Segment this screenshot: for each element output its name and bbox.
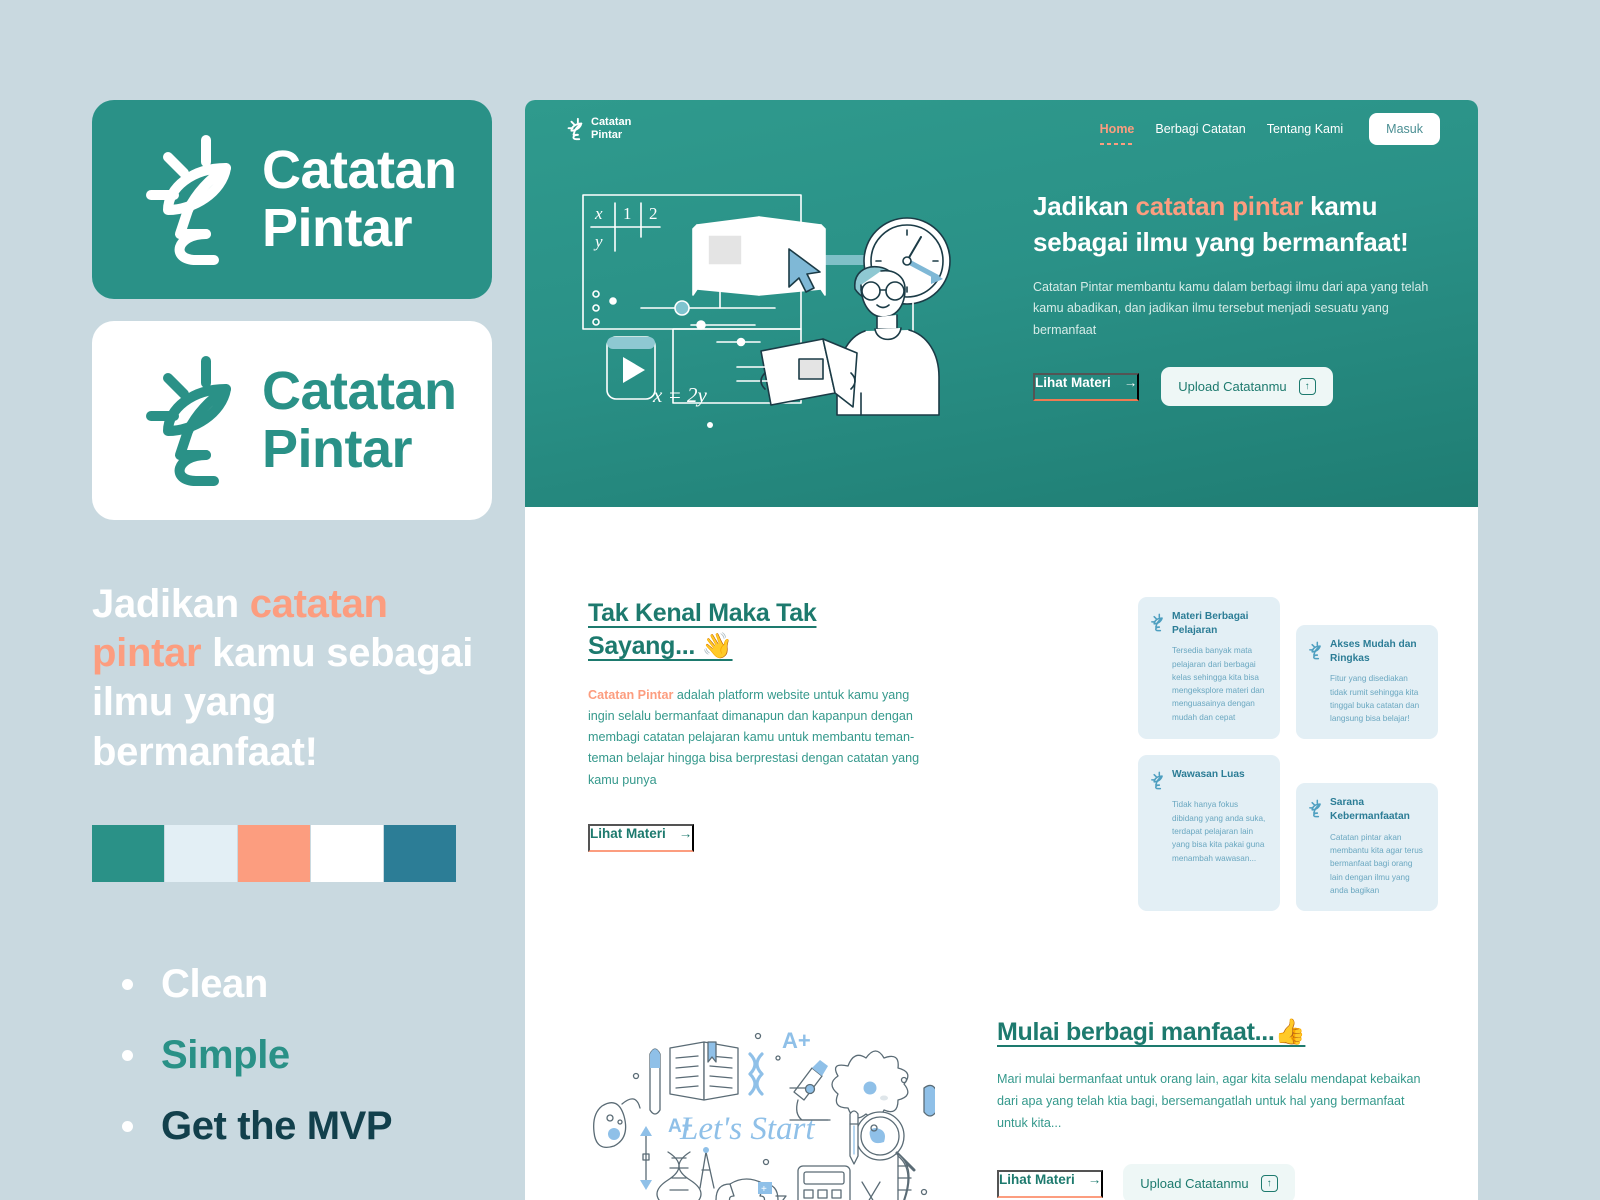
principle-label: Clean — [161, 962, 268, 1007]
color-swatch-white — [311, 825, 383, 882]
start-section: Let's Start A+ A+ — [525, 911, 1478, 1200]
feature-card-title: Wawasan Luas — [1172, 768, 1245, 782]
intro-lihat-materi-label: Lihat Materi — [590, 826, 666, 841]
navbar: Catatan Pintar Home Berbagi Catatan Tent… — [525, 100, 1478, 157]
feature-card-title: Sarana Kebermanfaatan — [1330, 796, 1426, 823]
quill-plant-icon — [130, 130, 248, 270]
intro-title[interactable]: Tak Kenal Maka Tak Sayang... 👋 — [588, 597, 928, 663]
brand-showcase-panel: CatatanPintar CatatanPintar Jadikan cata… — [92, 100, 492, 1175]
hero-upload-button[interactable]: Upload Catatanmu ↑ — [1161, 367, 1332, 406]
nav-link-berbagi-catatan[interactable]: Berbagi Catatan — [1155, 122, 1245, 136]
color-palette — [92, 825, 492, 882]
bullet-icon — [122, 1050, 133, 1061]
feature-card[interactable]: Wawasan LuasTidak hanya fokus dibidang y… — [1138, 755, 1280, 911]
color-swatch-deep-blue — [384, 825, 456, 882]
principle-item: Get the MVP — [92, 1104, 492, 1149]
svg-text:2: 2 — [649, 204, 658, 223]
svg-text:1: 1 — [623, 204, 632, 223]
brand-tagline: Jadikan catatan pintar kamu sebagai ilmu… — [92, 580, 492, 777]
hero-subtitle: Catatan Pintar membantu kamu dalam berba… — [1033, 277, 1440, 342]
hero-section: Catatan Pintar Home Berbagi Catatan Tent… — [525, 100, 1478, 507]
bullet-icon — [122, 1121, 133, 1132]
feature-card-header: Wawasan Luas — [1149, 768, 1268, 791]
intro-brandname: Catatan Pintar — [588, 688, 673, 702]
color-swatch-teal — [92, 825, 164, 882]
hero-illustration: x y 1 2 — [565, 177, 985, 437]
navbar-links: Home Berbagi Catatan Tentang Kami Masuk — [1100, 113, 1440, 145]
start-lihat-materi-link[interactable]: Lihat Materi → — [997, 1170, 1103, 1198]
feature-card-header: Sarana Kebermanfaatan — [1307, 796, 1426, 823]
start-copy: Mulai berbagi manfaat...👍 Mari mulai ber… — [935, 1006, 1438, 1200]
arrow-right-icon: → — [1124, 375, 1138, 390]
feature-card-title: Materi Berbagai Pelajaran — [1172, 610, 1268, 637]
intro-lihat-materi-link[interactable]: Lihat Materi → — [588, 824, 694, 852]
principle-label: Simple — [161, 1033, 290, 1078]
feature-card-text: Tersedia banyak mata pelajaran dari berb… — [1149, 644, 1268, 724]
feature-card-text: Tidak hanya fokus dibidang yang anda suk… — [1149, 798, 1268, 864]
logo-card-light: CatatanPintar — [92, 321, 492, 520]
logo-wordmark: CatatanPintar — [262, 142, 457, 258]
feature-card-grid: Materi Berbagai PelajaranTersedia banyak… — [1138, 597, 1438, 911]
feature-card-header: Materi Berbagai Pelajaran — [1149, 610, 1268, 637]
start-actions: Lihat Materi → Upload Catatanmu ↑ — [997, 1164, 1438, 1200]
intro-section: Tak Kenal Maka Tak Sayang... 👋 Catatan P… — [525, 507, 1478, 911]
nav-link-home[interactable]: Home — [1100, 122, 1135, 136]
login-button[interactable]: Masuk — [1369, 113, 1440, 145]
arrow-right-icon: → — [1088, 1172, 1102, 1187]
svg-text:Let's Start: Let's Start — [679, 1111, 815, 1147]
principle-label: Get the MVP — [161, 1104, 392, 1149]
hero-actions: Lihat Materi → Upload Catatanmu ↑ — [1033, 367, 1440, 406]
feature-card-title: Akses Mudah dan Ringkas — [1330, 638, 1426, 665]
hero-lihat-materi-link[interactable]: Lihat Materi → — [1033, 373, 1139, 401]
start-upload-button[interactable]: Upload Catatanmu ↑ — [1123, 1164, 1294, 1200]
quill-plant-icon — [1149, 612, 1165, 633]
logo-card-dark: CatatanPintar — [92, 100, 492, 299]
svg-text:x = 2y: x = 2y — [652, 383, 707, 407]
bullet-icon — [122, 979, 133, 990]
feature-card-text: Fitur yang disediakan tidak rumit sehing… — [1307, 672, 1426, 725]
feature-card[interactable]: Sarana KebermanfaatanCatatan pintar akan… — [1296, 783, 1438, 911]
start-body: Mari mulai bermanfaat untuk orang lain, … — [997, 1069, 1438, 1134]
svg-text:A+: A+ — [782, 1028, 811, 1053]
quill-plant-icon — [130, 351, 248, 491]
quill-plant-icon — [1149, 770, 1165, 791]
principles-list: CleanSimpleGet the MVP — [92, 962, 492, 1149]
navbar-logo[interactable]: Catatan Pintar — [565, 116, 631, 142]
feature-card-text: Catatan pintar akan membantu kita agar t… — [1307, 831, 1426, 897]
color-swatch-pale-blue — [165, 825, 237, 882]
principle-item: Simple — [92, 1033, 492, 1078]
website-mockup: Catatan Pintar Home Berbagi Catatan Tent… — [525, 100, 1478, 1200]
intro-copy: Tak Kenal Maka Tak Sayang... 👋 Catatan P… — [588, 597, 928, 911]
quill-plant-icon — [1307, 640, 1323, 661]
start-illustration: Let's Start A+ A+ — [580, 1006, 935, 1200]
start-upload-label: Upload Catatanmu — [1140, 1176, 1248, 1191]
quill-plant-icon — [565, 116, 585, 142]
upload-arrow-icon: ↑ — [1261, 1175, 1278, 1192]
svg-text:x: x — [594, 204, 603, 223]
nav-link-tentang-kami[interactable]: Tentang Kami — [1267, 122, 1343, 136]
hero-title: Jadikan catatan pintar kamu sebagai ilmu… — [1033, 189, 1440, 261]
svg-text:y: y — [593, 232, 603, 251]
svg-text:+: + — [761, 1184, 767, 1195]
navbar-logo-text: Catatan Pintar — [591, 116, 631, 141]
principle-item: Clean — [92, 962, 492, 1007]
upload-arrow-icon: ↑ — [1299, 378, 1316, 395]
hero-title-accent: catatan pintar — [1135, 191, 1303, 221]
color-swatch-coral — [238, 825, 310, 882]
start-title[interactable]: Mulai berbagi manfaat...👍 — [997, 1016, 1438, 1049]
arrow-right-icon: → — [679, 826, 693, 841]
hero-copy: Jadikan catatan pintar kamu sebagai ilmu… — [985, 171, 1440, 437]
hero-body: x y 1 2 — [525, 157, 1478, 437]
hero-lihat-materi-label: Lihat Materi — [1035, 375, 1111, 390]
logo-wordmark: CatatanPintar — [262, 363, 457, 479]
quill-plant-icon — [1307, 798, 1323, 819]
feature-card[interactable]: Materi Berbagai PelajaranTersedia banyak… — [1138, 597, 1280, 739]
intro-actions: Lihat Materi → — [588, 824, 928, 852]
intro-body: Catatan Pintar adalah platform website u… — [588, 685, 928, 791]
feature-card-header: Akses Mudah dan Ringkas — [1307, 638, 1426, 665]
start-lihat-materi-label: Lihat Materi — [999, 1172, 1075, 1187]
feature-card[interactable]: Akses Mudah dan RingkasFitur yang disedi… — [1296, 625, 1438, 739]
svg-text:A+: A+ — [668, 1116, 693, 1137]
hero-upload-label: Upload Catatanmu — [1178, 379, 1286, 394]
